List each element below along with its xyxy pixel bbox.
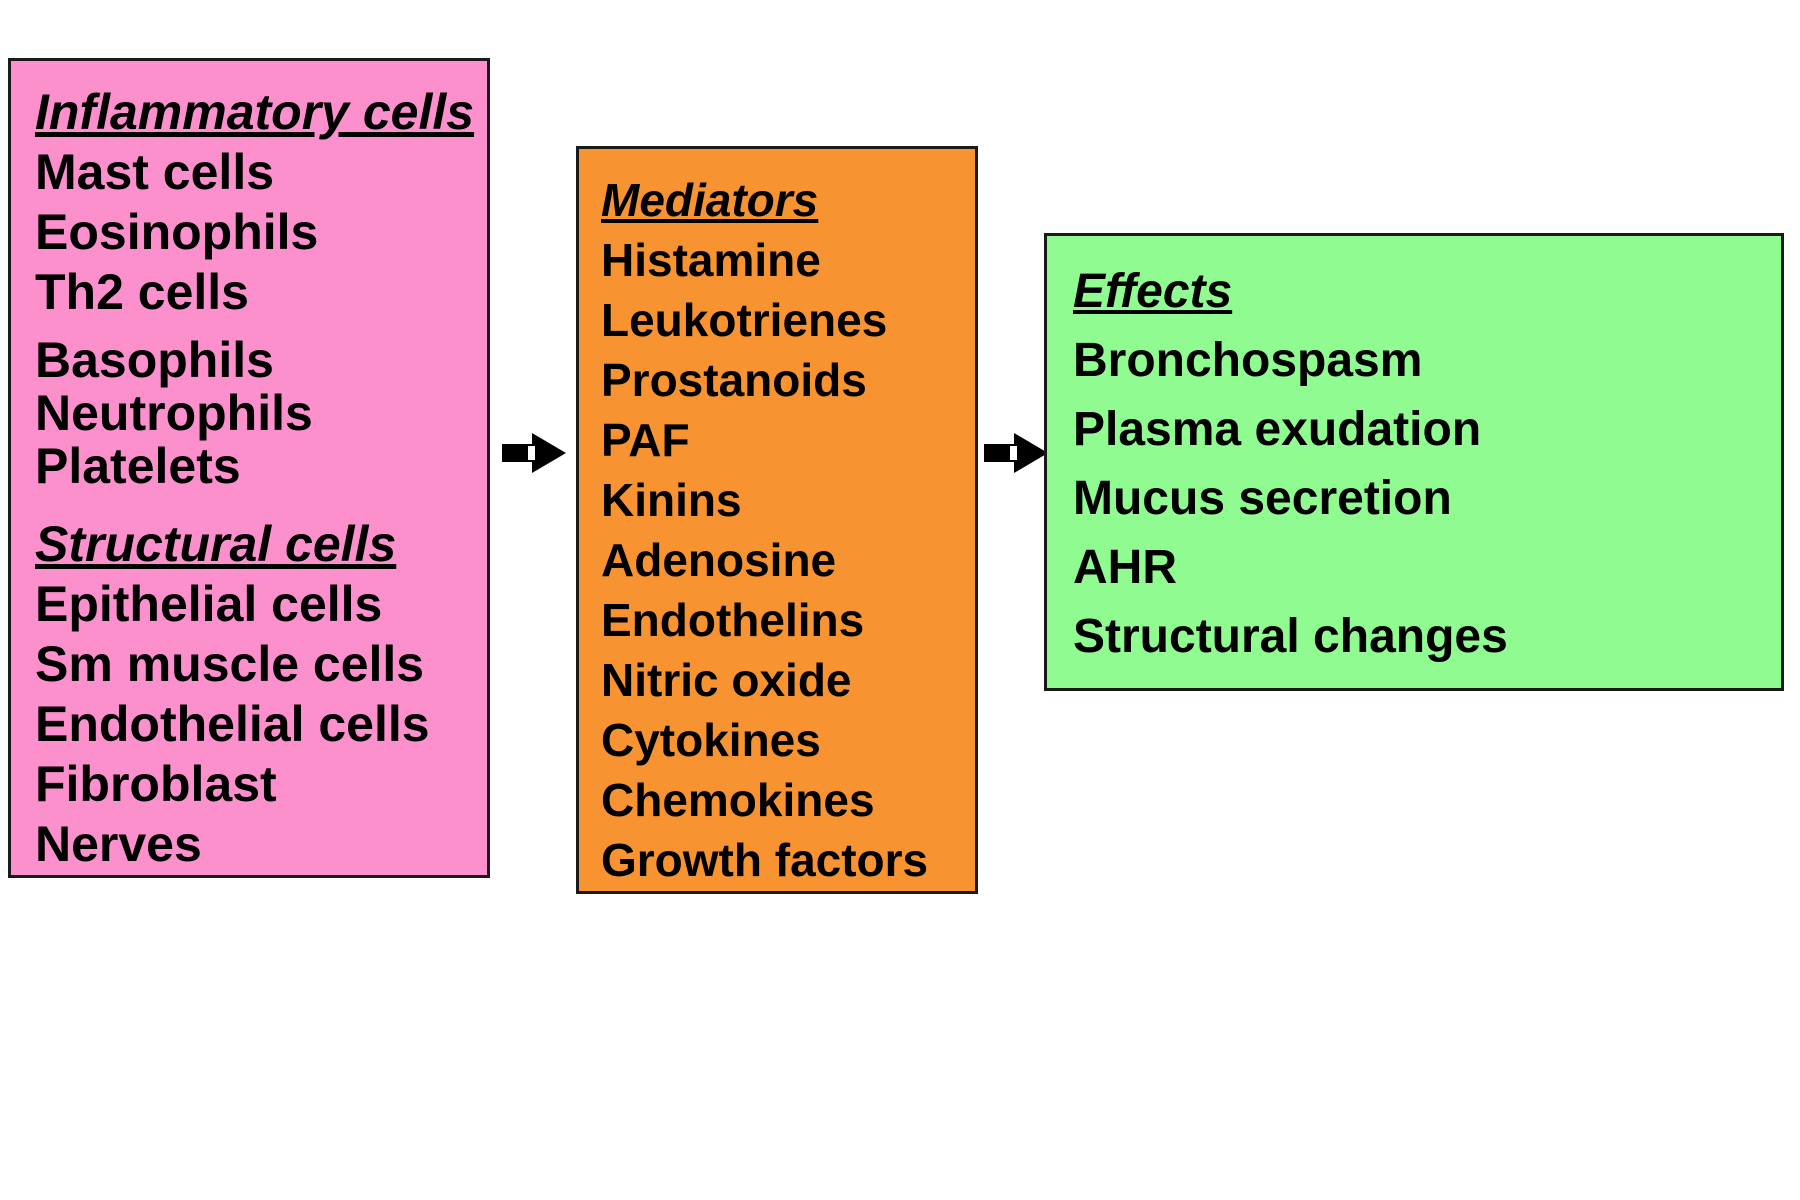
- inflammatory-cells-list-secondary: Basophils Neutrophils Platelets: [35, 335, 487, 491]
- list-item: Endothelins: [601, 597, 975, 643]
- arrow-mediators-to-effects-icon: [984, 428, 1050, 478]
- list-item: Th2 cells: [35, 267, 487, 317]
- list-item: Eosinophils: [35, 207, 487, 257]
- list-item: Histamine: [601, 237, 975, 283]
- diagram-canvas: Inflammatory cells Mast cells Eosinophil…: [0, 0, 1800, 1200]
- inflammatory-cells-box: Inflammatory cells Mast cells Eosinophil…: [8, 58, 490, 878]
- list-item: Mast cells: [35, 147, 487, 197]
- effects-box: Effects Bronchospasm Plasma exudation Mu…: [1044, 233, 1784, 691]
- list-item: Nitric oxide: [601, 657, 975, 703]
- mediators-heading: Mediators: [601, 177, 975, 223]
- list-item: AHR: [1073, 544, 1781, 592]
- structural-cells-heading: Structural cells: [35, 519, 487, 569]
- list-item: Platelets: [35, 441, 487, 491]
- effects-list: Bronchospasm Plasma exudation Mucus secr…: [1073, 337, 1781, 661]
- list-item: Plasma exudation: [1073, 406, 1781, 454]
- list-item: Growth factors: [601, 837, 975, 883]
- list-item: Endothelial cells: [35, 699, 487, 749]
- list-item: Prostanoids: [601, 357, 975, 403]
- list-item: Kinins: [601, 477, 975, 523]
- mediators-list: Histamine Leukotrienes Prostanoids PAF K…: [601, 237, 975, 883]
- structural-cells-list: Epithelial cells Sm muscle cells Endothe…: [35, 579, 487, 869]
- mediators-box: Mediators Histamine Leukotrienes Prostan…: [576, 146, 978, 894]
- list-item: Chemokines: [601, 777, 975, 823]
- list-item: Epithelial cells: [35, 579, 487, 629]
- list-item: PAF: [601, 417, 975, 463]
- list-item: Sm muscle cells: [35, 639, 487, 689]
- list-item: Mucus secretion: [1073, 475, 1781, 523]
- effects-heading: Effects: [1073, 268, 1781, 316]
- list-item: Neutrophils: [35, 388, 487, 438]
- list-item: Structural changes: [1073, 613, 1781, 661]
- inflammatory-cells-list-primary: Mast cells Eosinophils Th2 cells: [35, 147, 487, 317]
- inflammatory-cells-heading: Inflammatory cells: [35, 87, 487, 137]
- list-item: Fibroblast: [35, 759, 487, 809]
- list-item: Cytokines: [601, 717, 975, 763]
- list-item: Nerves: [35, 819, 487, 869]
- list-item: Adenosine: [601, 537, 975, 583]
- arrow-cells-to-mediators-icon: [502, 428, 568, 478]
- list-item: Bronchospasm: [1073, 337, 1781, 385]
- list-item: Basophils: [35, 335, 487, 385]
- list-item: Leukotrienes: [601, 297, 975, 343]
